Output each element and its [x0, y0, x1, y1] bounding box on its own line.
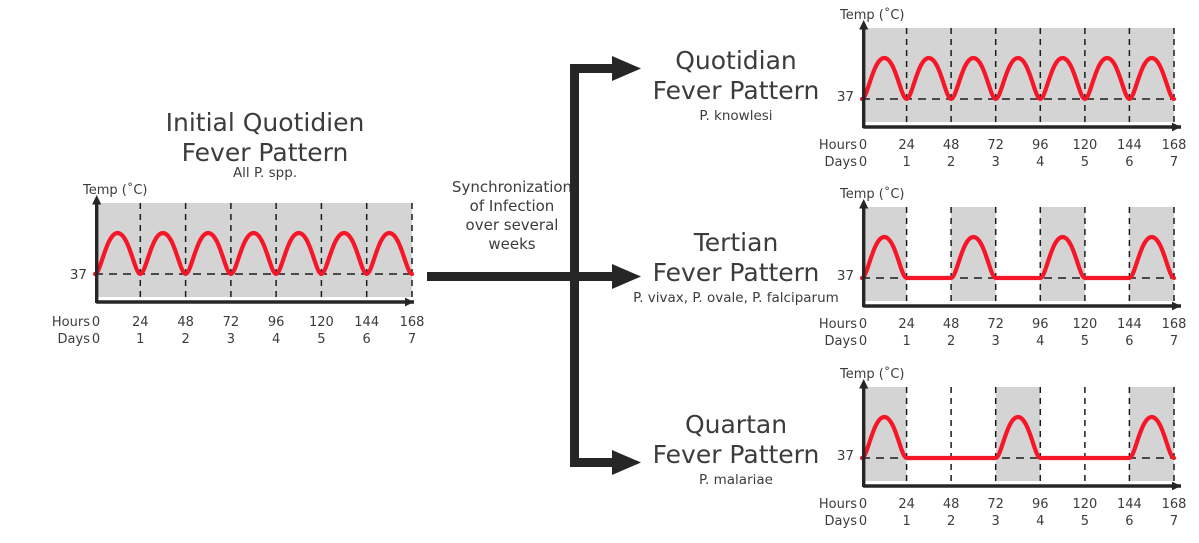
tertian-bands	[862, 207, 1174, 301]
tertian-days-tick-3: 3	[992, 334, 1000, 349]
tertian-hours-tick-4: 96	[1032, 317, 1049, 332]
quotidian-hours-tick-6: 144	[1117, 138, 1142, 153]
tertian-band-144-168	[1129, 207, 1174, 301]
arrow-branch-top-stem	[570, 64, 618, 73]
tertian-hours-tick-1: 24	[898, 317, 915, 332]
quartan-days-tick-5: 5	[1081, 514, 1089, 529]
quotidian-days-tick-1: 1	[902, 155, 910, 170]
quartan-panel-subtitle: P. malariae	[632, 472, 840, 488]
quartan-plot	[862, 387, 1182, 493]
tertian-days-row-label: Days	[825, 334, 862, 349]
quotidian-days-row-label: Days	[825, 155, 862, 170]
quotidian-days-tick-4: 4	[1036, 155, 1044, 170]
quotidian-days-tick-3: 3	[992, 155, 1000, 170]
quartan-hours-tick-4: 96	[1032, 497, 1049, 512]
quartan-days-row: Days 0 1 2 3 4 5 6 7	[862, 514, 1174, 531]
quartan-band-0-24	[862, 387, 907, 481]
quotidian-hours-tick-3: 72	[987, 138, 1004, 153]
quotidian-hours-tick-0: 0	[859, 138, 867, 153]
quartan-temp-axis-label: Temp (˚C)	[840, 367, 905, 382]
quartan-hours-tick-7: 168	[1162, 497, 1187, 512]
tertian-tick-labels: Hours 0 24 48 72 96 120 144 168 Days 0 1…	[862, 317, 1174, 351]
quotidian-hours-row-label: Hours	[819, 138, 862, 153]
quartan-days-tick-7: 7	[1170, 514, 1178, 529]
tertian-days-tick-4: 4	[1036, 334, 1044, 349]
quotidian-temp-axis-label: Temp (˚C)	[840, 8, 905, 23]
quartan-hours-tick-5: 120	[1072, 497, 1097, 512]
quotidian-band-full	[862, 28, 1174, 122]
quartan-title-line-1: Quartan	[632, 410, 840, 440]
figure-canvas: Initial Quotidien Fever Pattern All P. s…	[0, 0, 1199, 543]
quartan-band-144-168	[1129, 387, 1174, 481]
quartan-title-line-2: Fever Pattern	[632, 440, 840, 470]
quotidian-panel-title: Quotidian Fever Pattern	[632, 46, 840, 106]
quartan-hours-tick-3: 72	[987, 497, 1004, 512]
quotidian-tick-labels: Hours 0 24 48 72 96 120 144 168 Days 0 1…	[862, 138, 1174, 172]
tertian-baseline-value: 37	[830, 268, 854, 284]
quartan-days-tick-3: 3	[992, 514, 1000, 529]
quartan-hours-tick-2: 48	[943, 497, 960, 512]
quotidian-days-tick-6: 6	[1125, 155, 1133, 170]
tertian-hours-tick-7: 168	[1162, 317, 1187, 332]
quotidian-x-axis-arrowhead	[1172, 123, 1181, 132]
quartan-x-axis-arrowhead	[1172, 482, 1181, 491]
tertian-band-48-72	[951, 207, 996, 301]
quartan-tick-labels: Hours 0 24 48 72 96 120 144 168 Days 0 1…	[862, 497, 1174, 531]
quartan-days-tick-0: 0	[859, 514, 867, 529]
tertian-title-line-2: Fever Pattern	[632, 258, 840, 288]
tertian-plot	[862, 207, 1182, 313]
arrow-inbound-horizontal	[427, 272, 579, 281]
tertian-band-0-24	[862, 207, 907, 301]
quotidian-hours-tick-1: 24	[898, 138, 915, 153]
tertian-days-tick-1: 1	[902, 334, 910, 349]
tertian-panel-subtitle: P. vivax, P. ovale, P. falciparum	[622, 290, 850, 306]
quartan-hours-tick-1: 24	[898, 497, 915, 512]
quartan-hours-tick-0: 0	[859, 497, 867, 512]
quotidian-days-row: Days 0 1 2 3 4 5 6 7	[862, 155, 1174, 172]
chart-quartan: Temp (˚C) 37	[862, 387, 1182, 493]
quartan-days-tick-1: 1	[902, 514, 910, 529]
quartan-panel-title: Quartan Fever Pattern	[632, 410, 840, 470]
tertian-panel-title: Tertian Fever Pattern	[632, 228, 840, 288]
quartan-days-tick-4: 4	[1036, 514, 1044, 529]
quartan-hours-row-label: Hours	[819, 497, 862, 512]
quotidian-plot	[862, 28, 1182, 134]
tertian-x-axis-arrowhead	[1172, 302, 1181, 311]
tertian-days-tick-5: 5	[1081, 334, 1089, 349]
tertian-days-tick-7: 7	[1170, 334, 1178, 349]
quotidian-days-tick-5: 5	[1081, 155, 1089, 170]
quotidian-panel-subtitle: P. knowlesi	[632, 108, 840, 124]
quotidian-hours-tick-4: 96	[1032, 138, 1049, 153]
quotidian-baseline-value: 37	[830, 89, 854, 105]
tertian-temp-axis-label: Temp (˚C)	[840, 187, 905, 202]
tertian-hours-tick-3: 72	[987, 317, 1004, 332]
quartan-days-tick-6: 6	[1125, 514, 1133, 529]
quotidian-hours-tick-7: 168	[1162, 138, 1187, 153]
quartan-bands	[862, 387, 1174, 481]
tertian-hours-tick-6: 144	[1117, 317, 1142, 332]
arrow-trunk-vertical	[570, 64, 579, 467]
quartan-baseline-value: 37	[830, 448, 854, 464]
chart-quotidian: Temp (˚C) 37 Hours 0 24	[862, 28, 1182, 134]
tertian-hours-tick-2: 48	[943, 317, 960, 332]
quotidian-hours-tick-2: 48	[943, 138, 960, 153]
quartan-hours-row: Hours 0 24 48 72 96 120 144 168	[862, 497, 1174, 514]
quotidian-title-line-2: Fever Pattern	[632, 76, 840, 106]
quartan-hours-tick-6: 144	[1117, 497, 1142, 512]
quotidian-title-line-1: Quotidian	[632, 46, 840, 76]
quotidian-days-tick-0: 0	[859, 155, 867, 170]
tertian-hours-tick-0: 0	[859, 317, 867, 332]
tertian-hours-tick-5: 120	[1072, 317, 1097, 332]
quartan-days-tick-2: 2	[947, 514, 955, 529]
chart-tertian: Temp (˚C) 37	[862, 207, 1182, 313]
arrow-branch-middle-stem	[570, 272, 618, 281]
quotidian-hours-tick-5: 120	[1072, 138, 1097, 153]
tertian-hours-row: Hours 0 24 48 72 96 120 144 168	[862, 317, 1174, 334]
tertian-fever-curve	[862, 237, 1174, 278]
quotidian-days-tick-7: 7	[1170, 155, 1178, 170]
tertian-title-line-1: Tertian	[632, 228, 840, 258]
tertian-days-tick-0: 0	[859, 334, 867, 349]
tertian-days-tick-2: 2	[947, 334, 955, 349]
tertian-days-row: Days 0 1 2 3 4 5 6 7	[862, 334, 1174, 351]
quartan-days-row-label: Days	[825, 514, 862, 529]
tertian-hours-row-label: Hours	[819, 317, 862, 332]
quotidian-days-tick-2: 2	[947, 155, 955, 170]
tertian-band-96-120	[1040, 207, 1085, 301]
tertian-days-tick-6: 6	[1125, 334, 1133, 349]
arrow-branch-bottom-stem	[570, 458, 618, 467]
quartan-band-72-96	[996, 387, 1041, 481]
quotidian-hours-row: Hours 0 24 48 72 96 120 144 168	[862, 138, 1174, 155]
